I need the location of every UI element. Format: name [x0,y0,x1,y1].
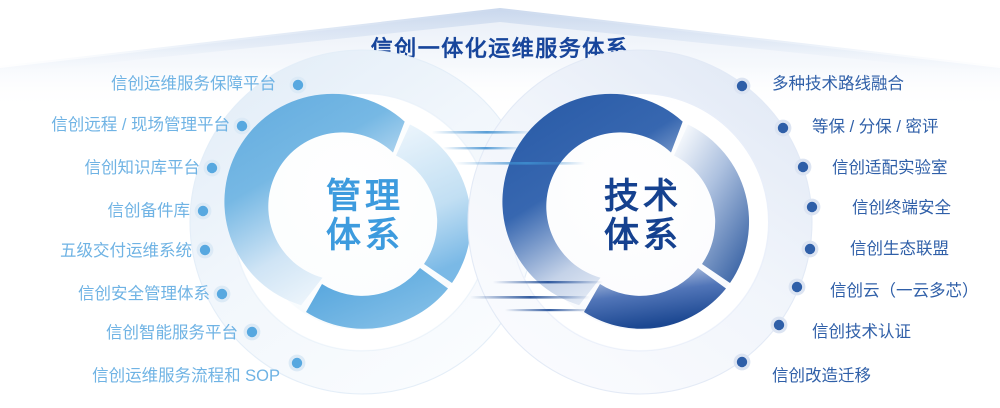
connector-dot [804,199,821,216]
left-hub-label-line1: 管理 [285,178,445,217]
right-item-label-6[interactable]: 信创云（一云多芯） [830,283,979,300]
left-item-label-2[interactable]: 信创远程 / 现场管理平台 [51,117,230,134]
connector-dot [734,78,751,95]
right-hub-label-line2: 体系 [563,217,723,256]
right-hub-label: 技术 体系 [563,178,723,255]
right-hub-label-line1: 技术 [563,178,723,217]
left-item-label-3[interactable]: 信创知识库平台 [85,160,201,177]
left-item-label-8[interactable]: 信创运维服务流程和 SOP [92,368,280,385]
right-item-label-2[interactable]: 等保 / 分保 / 密评 [812,119,939,136]
connector-dot [195,203,212,220]
connector-dot [197,242,214,259]
connector-dot [204,160,221,177]
left-item-label-6[interactable]: 信创安全管理体系 [78,286,210,303]
connector-dot [802,241,819,258]
right-item-label-3[interactable]: 信创适配实验室 [832,160,948,177]
right-item-label-7[interactable]: 信创技术认证 [812,324,911,341]
connector-dot [234,118,251,135]
right-item-label-1[interactable]: 多种技术路线融合 [772,76,904,93]
connector-dot [290,77,307,94]
connector-dot [214,286,231,303]
left-item-label-5[interactable]: 五级交付运维系统 [60,243,192,260]
right-item-label-4[interactable]: 信创终端安全 [852,200,951,217]
left-item-label-1[interactable]: 信创运维服务保障平台 [111,76,276,93]
connector-dot [795,159,812,176]
connector-dot [775,120,792,137]
diagram-canvas: 信创一体化运维服务体系 [0,0,1000,408]
connector-dot [289,355,306,372]
left-hub-label: 管理 体系 [285,178,445,255]
connector-dot [734,354,751,371]
left-hub-label-line2: 体系 [285,217,445,256]
right-item-label-5[interactable]: 信创生态联盟 [850,241,949,258]
left-item-label-4[interactable]: 信创备件库 [108,203,191,220]
left-item-label-7[interactable]: 信创智能服务平台 [106,325,238,342]
connector-dot [771,317,788,334]
connector-dot [244,324,261,341]
connector-dot [789,279,806,296]
right-item-label-8[interactable]: 信创改造迁移 [772,368,871,385]
